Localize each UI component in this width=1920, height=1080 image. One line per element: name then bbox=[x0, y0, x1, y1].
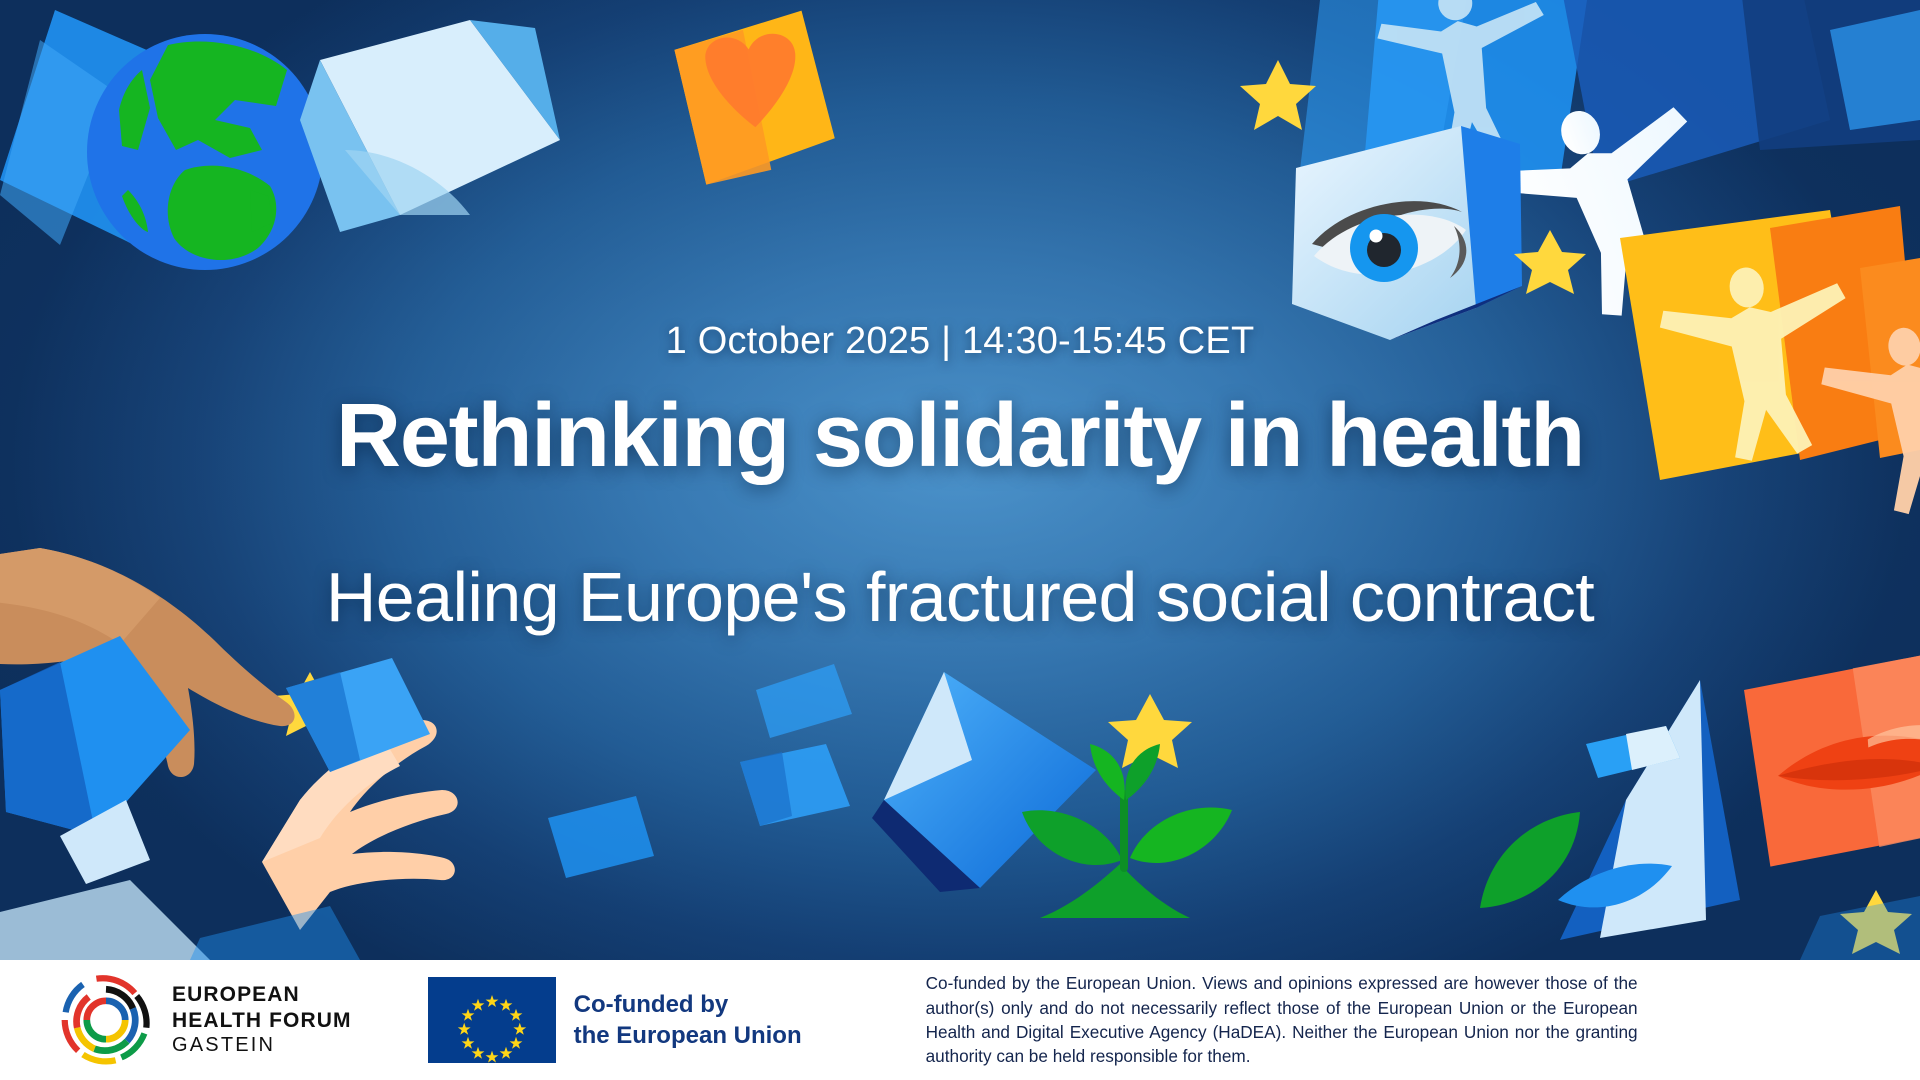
ehf-wordmark: EUROPEAN HEALTH FORUM GASTEIN bbox=[172, 982, 352, 1058]
eu-line-1: Co-funded by bbox=[574, 989, 802, 1020]
mouth-card-icon bbox=[1742, 654, 1920, 867]
ehf-spiral-mark bbox=[58, 972, 154, 1068]
ehf-line-1: EUROPEAN bbox=[172, 982, 352, 1008]
event-poster: 1 October 2025 | 14:30-15:45 CET Rethink… bbox=[0, 0, 1920, 1080]
funding-disclaimer: Co-funded by the European Union. Views a… bbox=[926, 971, 1638, 1069]
decorative-artwork bbox=[0, 0, 1920, 960]
ehf-line-2: HEALTH FORUM bbox=[172, 1008, 352, 1034]
footer-bar: EUROPEAN HEALTH FORUM GASTEIN bbox=[0, 960, 1920, 1080]
eu-line-2: the European Union bbox=[574, 1020, 802, 1051]
globe-icon bbox=[87, 34, 323, 270]
eu-wordmark: Co-funded by the European Union bbox=[574, 989, 802, 1051]
ehf-line-3: GASTEIN bbox=[172, 1033, 352, 1057]
eu-flag-icon bbox=[428, 977, 556, 1063]
ehf-logo: EUROPEAN HEALTH FORUM GASTEIN bbox=[58, 972, 352, 1068]
hero-banner: 1 October 2025 | 14:30-15:45 CET Rethink… bbox=[0, 0, 1920, 960]
eu-cofunded-logo: Co-funded by the European Union bbox=[428, 977, 802, 1063]
